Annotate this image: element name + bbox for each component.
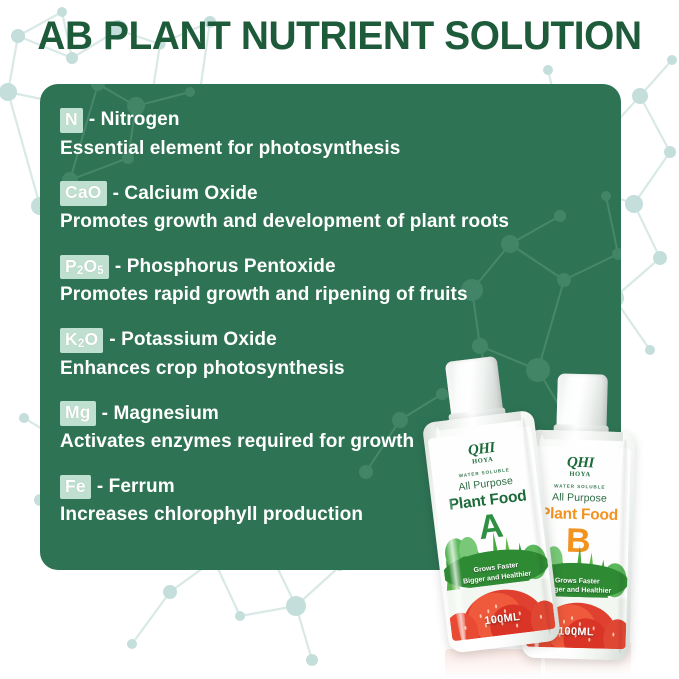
all-purpose-text: All Purpose [552,491,607,504]
water-soluble-text: WATER SOLUBLE [554,484,605,490]
brand-logo-sub: HOYA [469,456,496,466]
chemical-symbol-chip: Fe [60,475,91,500]
nutrient-description: Promotes rapid growth and ripening of fr… [60,284,611,306]
bottle-shoulder [539,430,624,442]
chemical-symbol-chip: Mg [60,401,96,426]
nutrient-item-calcium-oxide: CaO - Calcium Oxide Promotes growth and … [60,181,611,232]
nutrient-name: - Potassium Oxide [109,330,276,350]
chemical-symbol-chip: K2O [60,328,103,353]
nutrient-heading: K2O - Potassium Oxide [60,328,611,353]
nutrient-description: Promotes growth and development of plant… [60,211,611,233]
page-title: AB PLANT NUTRIENT SOLUTION [10,14,669,59]
brand-logo-sub: HOYA [567,472,594,479]
nutrient-heading: P2O5 - Phosphorus Pentoxide [60,255,611,280]
chemical-symbol-chip: P2O5 [60,255,109,280]
nutrient-name: - Ferrum [97,477,175,497]
brand-logo-a: QHI HOYA [467,440,496,466]
bottle-label-a: QHI HOYA WATER SOLUBLE All Purpose Plant… [428,426,555,641]
nutrient-name: - Nitrogen [89,110,180,130]
brand-logo-main: QHI [567,456,594,472]
chemical-symbol-chip: N [60,108,83,133]
nutrient-name: - Magnesium [102,404,219,424]
nutrient-heading: CaO - Calcium Oxide [60,181,611,206]
product-infographic: AB PLANT NUTRIENT SOLUTION [0,0,679,679]
nutrient-item-phosphorus-pentoxide: P2O5 - Phosphorus Pentoxide Promotes rap… [60,255,611,306]
nutrient-item-nitrogen: N - Nitrogen Essential element for photo… [60,108,611,159]
nutrient-name: - Calcium Oxide [113,184,258,204]
nutrient-description: Essential element for photosynthesis [60,138,611,160]
brand-logo-b: QHI HOYA [567,456,594,479]
nutrient-name: - Phosphorus Pentoxide [115,257,336,277]
tagline-line-1: Grows Faster [555,577,600,585]
product-bottles: QHI HOYA WATER SOLUBLE All Purpose Plant… [410,352,679,679]
chemical-symbol-chip: CaO [60,181,107,206]
nutrient-heading: N - Nitrogen [60,108,611,133]
